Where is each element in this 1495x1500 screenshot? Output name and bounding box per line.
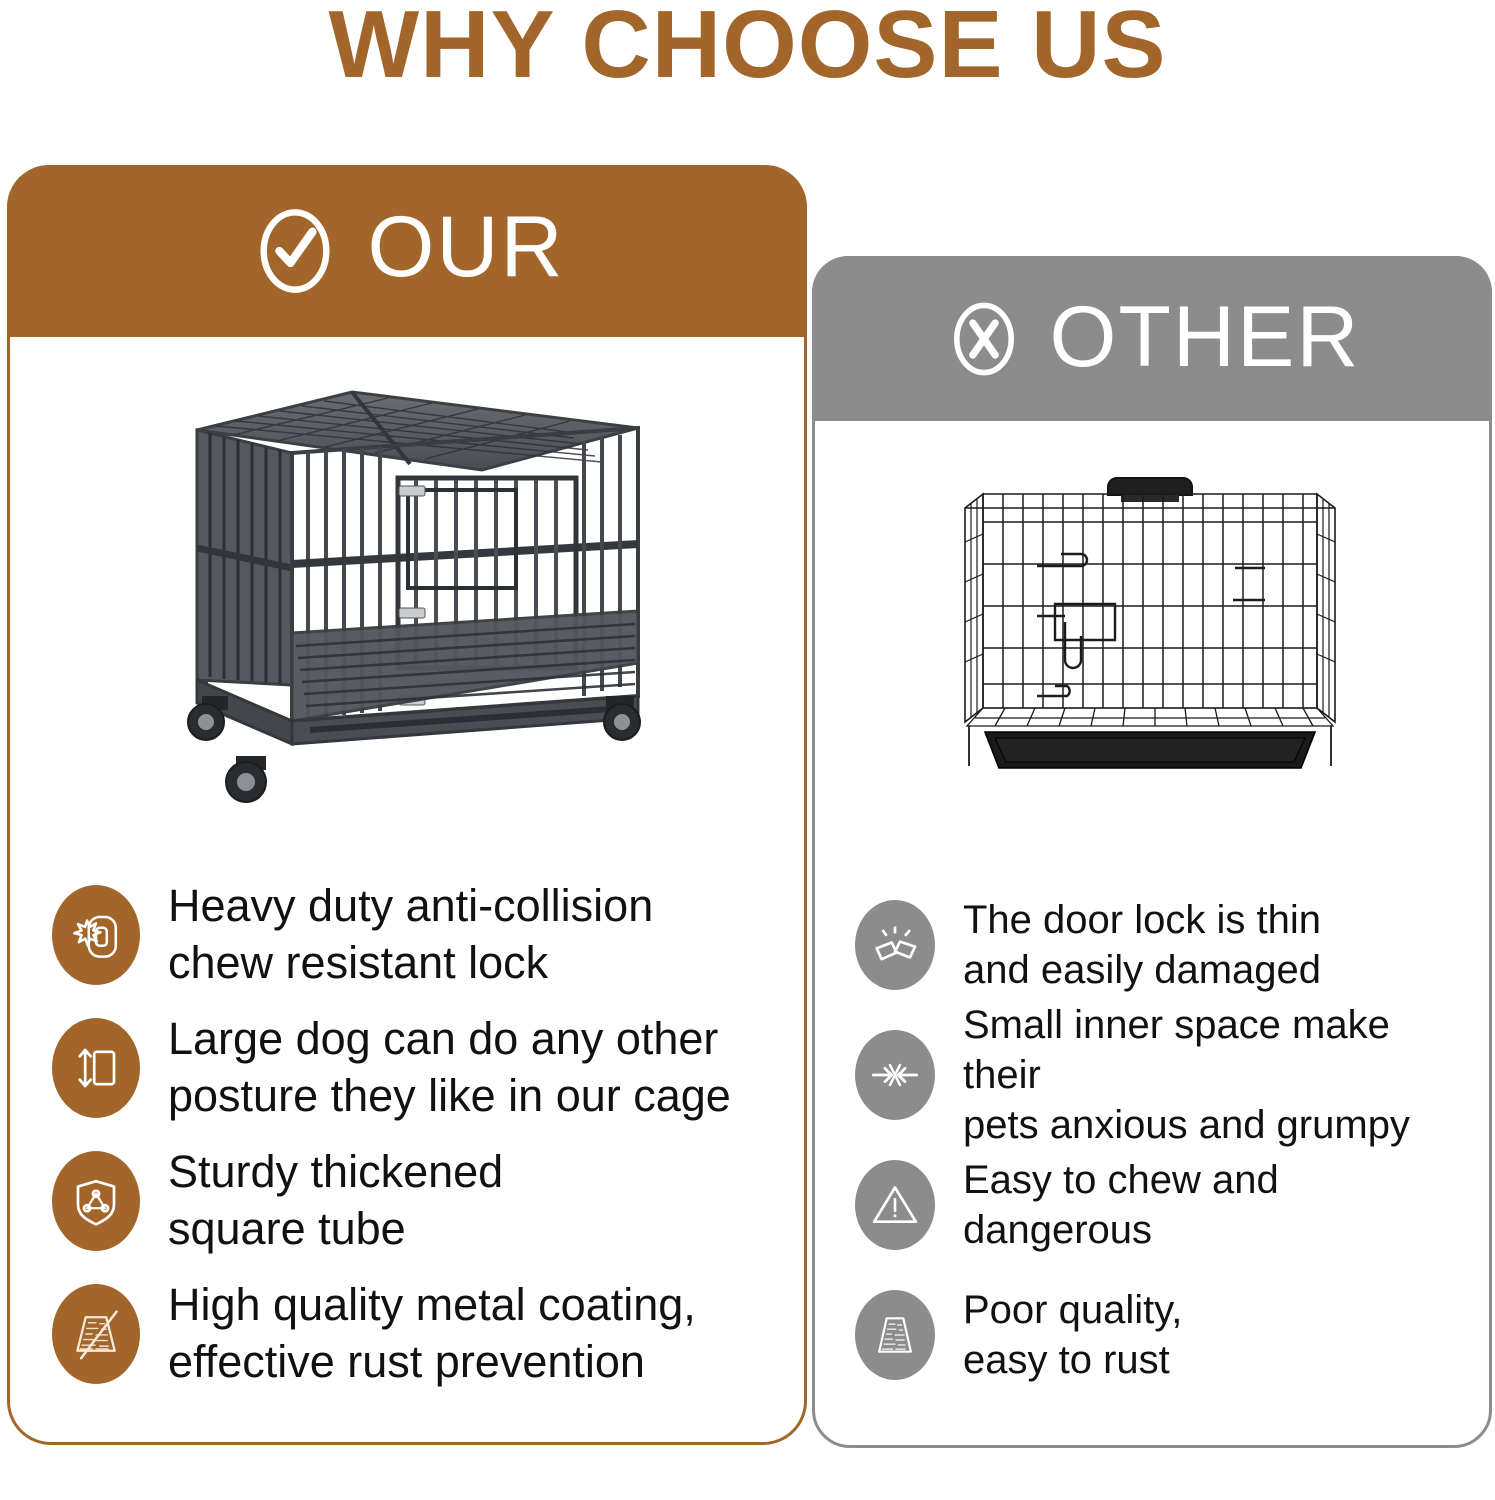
coated-metal-sheet-icon: [52, 1284, 140, 1384]
circle-check-icon: [249, 205, 341, 297]
list-item-label: The door lock is thin and easily damaged: [963, 895, 1321, 995]
list-item-label: Poor quality, easy to rust: [963, 1285, 1182, 1385]
circle-x-icon: [944, 299, 1024, 379]
page-title: WHY CHOOSE US: [0, 0, 1495, 98]
list-item: The door lock is thin and easily damaged: [855, 880, 1475, 1010]
vertical-space-icon: [52, 1018, 140, 1118]
list-item: Small inner space make their pets anxiou…: [855, 1010, 1475, 1140]
broken-lock-icon: [855, 900, 935, 990]
list-item-label: Easy to chew and dangerous: [963, 1155, 1279, 1255]
list-item: Sturdy thickened square tube: [52, 1134, 782, 1267]
other-product-image: [945, 452, 1355, 797]
list-item-label: Small inner space make their pets anxiou…: [963, 1000, 1475, 1150]
list-item-label: Heavy duty anti-collision chew resistant…: [168, 878, 653, 991]
list-item: Easy to chew and dangerous: [855, 1140, 1475, 1270]
other-panel-title: OTHER: [1050, 294, 1361, 380]
warning-triangle-icon: [855, 1160, 935, 1250]
list-item: Poor quality, easy to rust: [855, 1270, 1475, 1400]
impact-lock-icon: [52, 885, 140, 985]
our-panel-header: OUR: [7, 165, 807, 337]
our-feature-list: Heavy duty anti-collision chew resistant…: [52, 868, 782, 1400]
rusty-metal-sheet-icon: [855, 1290, 935, 1380]
list-item-label: Large dog can do any other posture they …: [168, 1011, 731, 1124]
our-product-image: [140, 378, 670, 818]
shield-structure-icon: [52, 1151, 140, 1251]
other-panel-header: OTHER: [812, 256, 1492, 421]
other-feature-list: The door lock is thin and easily damaged…: [855, 880, 1475, 1400]
list-item-label: Sturdy thickened square tube: [168, 1144, 503, 1257]
list-item-label: High quality metal coating, effective ru…: [168, 1277, 696, 1390]
our-panel-title: OUR: [367, 204, 564, 290]
list-item: Heavy duty anti-collision chew resistant…: [52, 868, 782, 1001]
compress-arrows-icon: [855, 1030, 935, 1120]
list-item: Large dog can do any other posture they …: [52, 1001, 782, 1134]
list-item: High quality metal coating, effective ru…: [52, 1267, 782, 1400]
